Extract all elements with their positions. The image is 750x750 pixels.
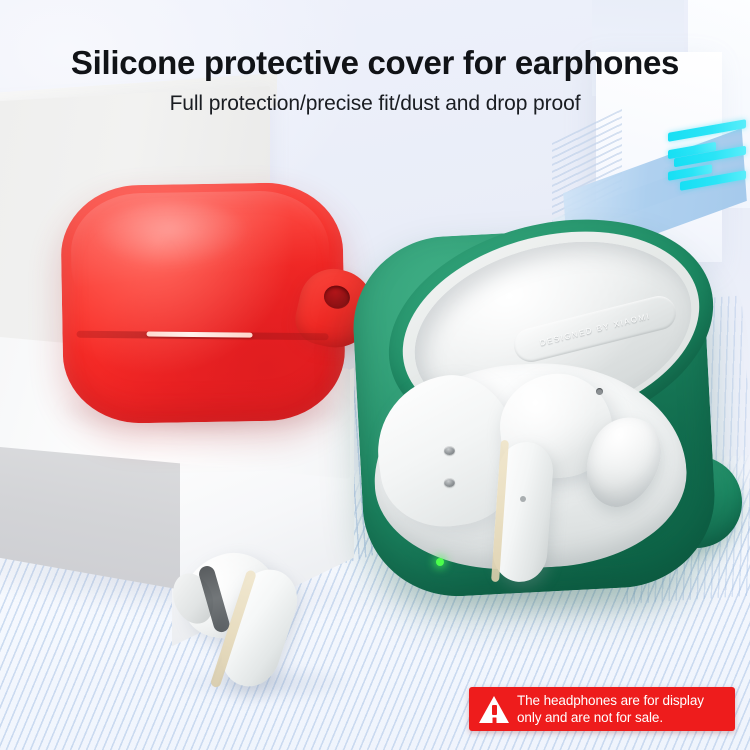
warning-text-line-1: The headphones are for display: [517, 692, 704, 709]
earbud-microphone-hole: [596, 388, 603, 395]
page-title: Silicone protective cover for earphones: [0, 44, 750, 82]
charging-pin-lower: [444, 478, 455, 487]
earbud-sensor-dot: [520, 496, 526, 502]
charging-led-indicator: [436, 558, 444, 566]
charging-pin-upper: [444, 446, 455, 455]
warning-triangle-icon: [479, 696, 509, 723]
green-silicone-case: DESIGNED BY XIAOMI: [352, 228, 734, 596]
warning-text: The headphones are for display only and …: [517, 692, 704, 726]
product-banner: Silicone protective cover for earphones …: [0, 0, 750, 750]
red-silicone-case: [60, 182, 346, 425]
warning-text-line-2: only and are not for sale.: [517, 709, 704, 726]
loose-earbud: [179, 543, 339, 703]
page-subtitle: Full protection/precise fit/dust and dro…: [0, 92, 750, 116]
display-only-warning-banner: The headphones are for display only and …: [469, 687, 735, 731]
